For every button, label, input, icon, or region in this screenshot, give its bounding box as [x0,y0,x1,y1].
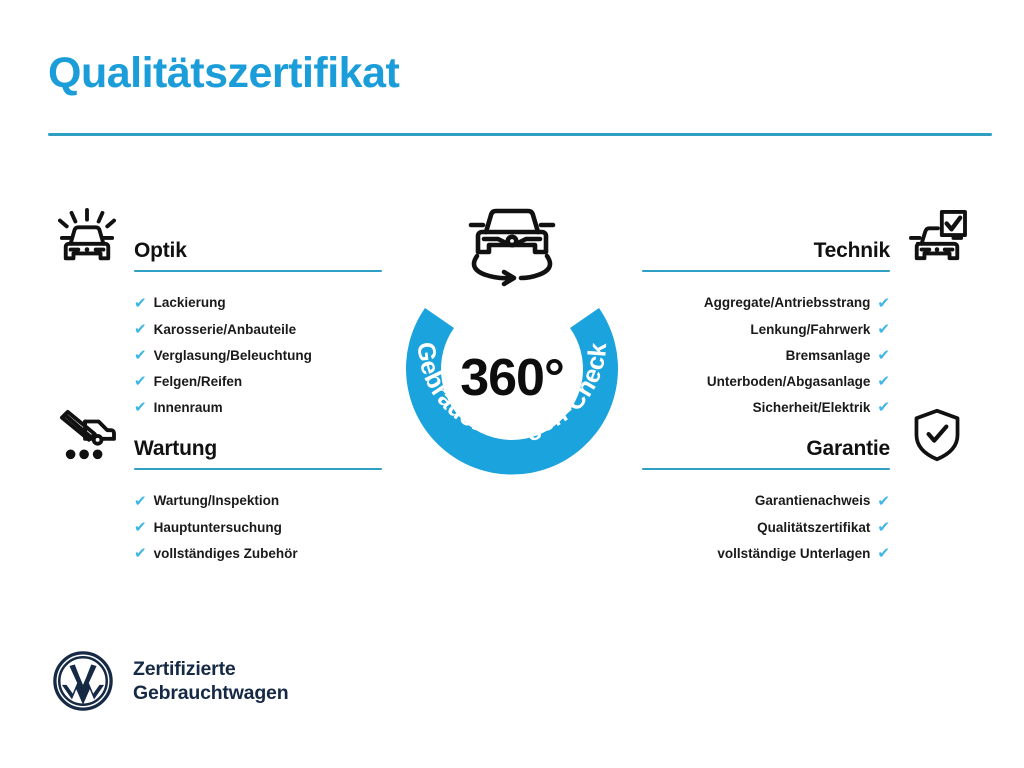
section-optik: Optik ✔ Lackierung ✔ Karosserie/Anbautei… [48,202,382,421]
check-icon: ✔ [877,546,890,561]
list-item: ✔ Felgen/Reifen [48,369,382,395]
checklist: Garantienachweis ✔ Qualitätszertifikat ✔… [642,488,976,567]
car-rotate-icon [456,196,568,292]
list-item-label: Garantienachweis [755,494,871,508]
badge-360-check: Gebrauchtwagen-Check 360° [378,196,646,496]
section-wartung: Wartung ✔ Wartung/Inspektion ✔ Hauptunte… [48,400,382,567]
check-icon: ✔ [134,520,147,535]
section-garantie: Garantie Garantienachweis ✔ Qualitätszer… [642,400,976,567]
list-item-label: vollständiges Zubehör [154,547,298,561]
section-header: Technik [642,202,976,276]
list-item-label: Verglasung/Beleuchtung [154,349,312,363]
check-icon: ✔ [877,322,890,337]
section-header: Optik [48,202,382,276]
list-item: ✔ vollständiges Zubehör [48,540,382,566]
check-icon: ✔ [134,546,147,561]
list-item: Aggregate/Antriebsstrang ✔ [642,290,976,316]
check-icon: ✔ [134,374,147,389]
section-title: Technik [642,240,890,262]
check-icon: ✔ [134,494,147,509]
list-item: ✔ Lackierung [48,290,382,316]
list-item: ✔ Verglasung/Beleuchtung [48,342,382,368]
list-item: vollständige Unterlagen ✔ [642,540,976,566]
list-item: Lenkung/Fahrwerk ✔ [642,316,976,342]
section-title-wrap: Optik [134,240,382,272]
shield-check-icon [898,400,976,470]
section-title: Optik [134,240,382,262]
list-item: ✔ Karosserie/Anbauteile [48,316,382,342]
section-technik: Technik Aggregate/Antriebsstrang ✔ Lenku… [642,202,976,421]
section-title-wrap: Technik [642,240,890,272]
car-checklist-icon [898,202,976,272]
badge-value: 360° [378,348,646,408]
list-item: Garantienachweis ✔ [642,488,976,514]
footer-line-1: Zertifizierte [133,657,288,681]
section-divider [642,468,890,471]
check-icon: ✔ [134,322,147,337]
list-item-label: Aggregate/Antriebsstrang [704,296,871,310]
section-title-wrap: Garantie [642,438,890,470]
page-title: Qualitätszertifikat [48,50,399,97]
section-divider [642,270,890,273]
check-icon: ✔ [134,348,147,363]
list-item: ✔ Wartung/Inspektion [48,488,382,514]
section-header: Wartung [48,400,382,474]
vw-logo [52,650,114,712]
list-item-label: Wartung/Inspektion [154,494,280,508]
list-item-label: Lackierung [154,296,226,310]
title-divider [48,133,992,136]
car-front-lights-icon [48,202,126,272]
list-item: ✔ Hauptuntersuchung [48,514,382,540]
section-divider [134,468,382,471]
check-icon: ✔ [134,296,147,311]
list-item-label: Qualitätszertifikat [757,521,870,535]
section-title: Garantie [642,438,890,460]
list-item: Bremsanlage ✔ [642,342,976,368]
list-item-label: Hauptuntersuchung [154,521,282,535]
list-item-label: vollständige Unterlagen [717,547,870,561]
section-title: Wartung [134,438,382,460]
list-item-label: Bremsanlage [786,349,871,363]
check-icon: ✔ [877,296,890,311]
footer-text: Zertifizierte Gebrauchtwagen [133,657,288,706]
section-header: Garantie [642,400,976,474]
list-item-label: Unterboden/Abgasanlage [707,375,871,389]
list-item: Unterboden/Abgasanlage ✔ [642,369,976,395]
list-item: Qualitätszertifikat ✔ [642,514,976,540]
check-icon: ✔ [877,374,890,389]
list-item-label: Felgen/Reifen [154,375,243,389]
list-item-label: Lenkung/Fahrwerk [750,323,870,337]
footer-line-2: Gebrauchtwagen [133,681,288,705]
check-icon: ✔ [877,494,890,509]
checklist: ✔ Wartung/Inspektion ✔ Hauptuntersuchung… [48,488,382,567]
list-item-label: Karosserie/Anbauteile [154,323,297,337]
car-lift-service-icon [48,400,126,470]
footer-brand: Zertifizierte Gebrauchtwagen [52,650,288,712]
check-icon: ✔ [877,348,890,363]
check-icon: ✔ [877,520,890,535]
section-divider [134,270,382,273]
section-title-wrap: Wartung [134,438,382,470]
